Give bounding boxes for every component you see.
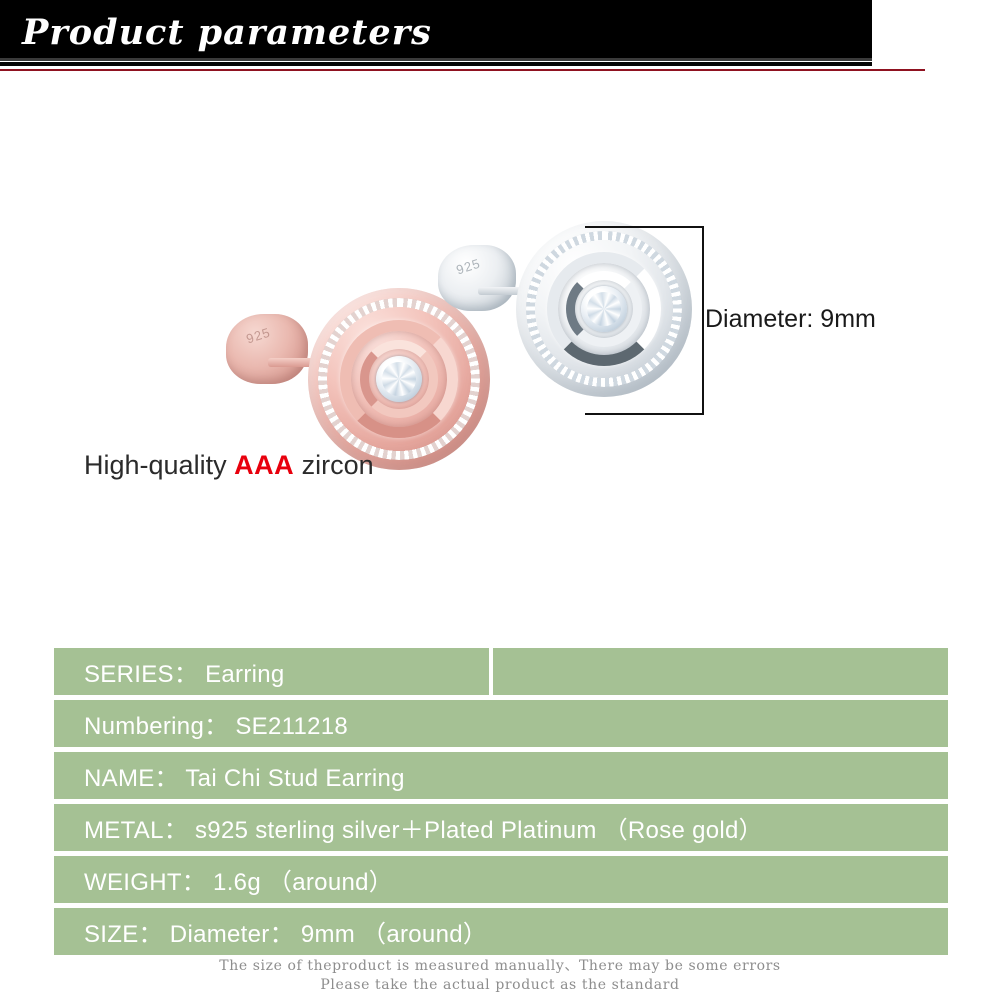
table-row: SERIES： Earring <box>54 648 948 695</box>
table-row: METAL： s925 sterling silver＋Plated Plati… <box>54 804 948 851</box>
footer-line-1: The size of theproduct is measured manua… <box>0 957 1000 976</box>
table-row: WEIGHT： 1.6g （around） <box>54 856 948 903</box>
table-row: NAME： Tai Chi Stud Earring <box>54 752 948 799</box>
header-stripe-black <box>0 62 872 66</box>
measure-line-bottom <box>585 413 704 415</box>
spec-weight-text: WEIGHT： 1.6g （around） <box>54 862 393 897</box>
spec-table: SERIES： Earring Numbering： SE211218 NAME… <box>54 648 948 960</box>
spec-size-text: SIZE： Diameter： 9mm （around） <box>54 914 487 949</box>
zircon-quality-caption: High-quality AAA zircon <box>84 450 374 481</box>
table-row: Numbering： SE211218 <box>54 700 948 747</box>
zircon-grade-aaa: AAA <box>234 450 294 480</box>
spec-name-text: NAME： Tai Chi Stud Earring <box>54 758 405 793</box>
center-zircon-stone <box>581 286 627 332</box>
measure-line-right <box>702 226 704 415</box>
spec-series-text: SERIES： Earring <box>54 654 285 689</box>
spec-numbering-text: Numbering： SE211218 <box>54 706 348 741</box>
zircon-caption-suffix: zircon <box>294 450 374 480</box>
center-zircon-stone <box>376 356 422 402</box>
measure-line-top <box>585 226 704 228</box>
header-rule-red <box>0 69 925 71</box>
zircon-caption-prefix: High-quality <box>84 450 234 480</box>
footer-line-2: Please take the actual product as the st… <box>0 976 1000 995</box>
earring-silver-platinum: 925 <box>430 215 690 415</box>
diameter-label: Diameter: 9mm <box>705 305 876 334</box>
header-stripe-dark <box>0 58 872 61</box>
spec-metal-text: METAL： s925 sterling silver＋Plated Plati… <box>54 810 763 845</box>
page-title: Product parameters <box>22 12 432 53</box>
footer-disclaimer: The size of theproduct is measured manua… <box>0 957 1000 995</box>
table-row: SIZE： Diameter： 9mm （around） <box>54 908 948 955</box>
spec-row-divider <box>489 648 493 695</box>
